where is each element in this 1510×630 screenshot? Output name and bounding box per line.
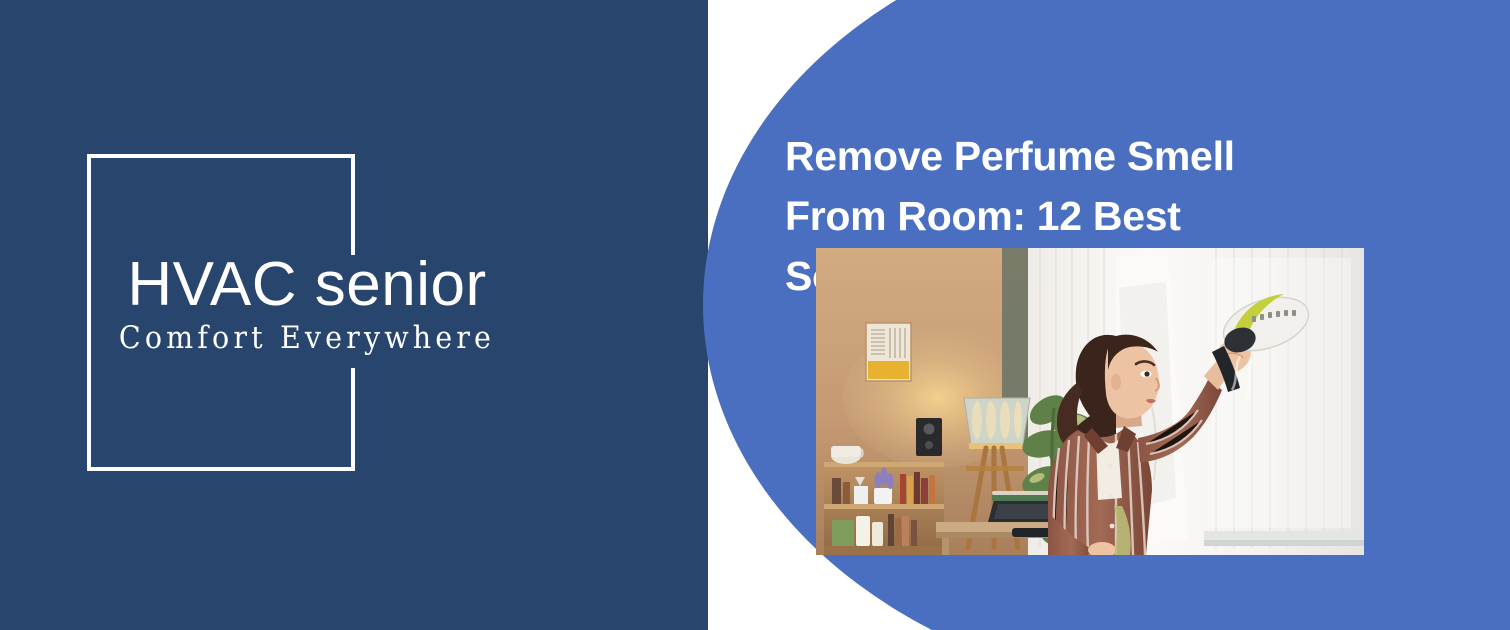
brand-panel: HVAC senior Comfort Everywhere xyxy=(0,0,708,630)
brand-logo: HVAC senior Comfort Everywhere xyxy=(87,154,355,471)
photo-illustration xyxy=(816,248,1364,555)
banner-canvas: HVAC senior Comfort Everywhere Remove Pe… xyxy=(0,0,1510,630)
logo-text-group: HVAC senior Comfort Everywhere xyxy=(0,252,617,358)
brand-tagline: Comfort Everywhere xyxy=(22,318,592,358)
article-photo xyxy=(816,248,1364,555)
brand-name: HVAC senior xyxy=(0,252,617,318)
logo-frame-top-edge xyxy=(87,154,355,158)
logo-frame-right-upper-edge xyxy=(351,154,355,255)
logo-frame-bottom-edge xyxy=(87,467,355,471)
logo-frame-right-lower-edge xyxy=(351,368,355,471)
logo-frame-left-edge xyxy=(87,154,91,471)
